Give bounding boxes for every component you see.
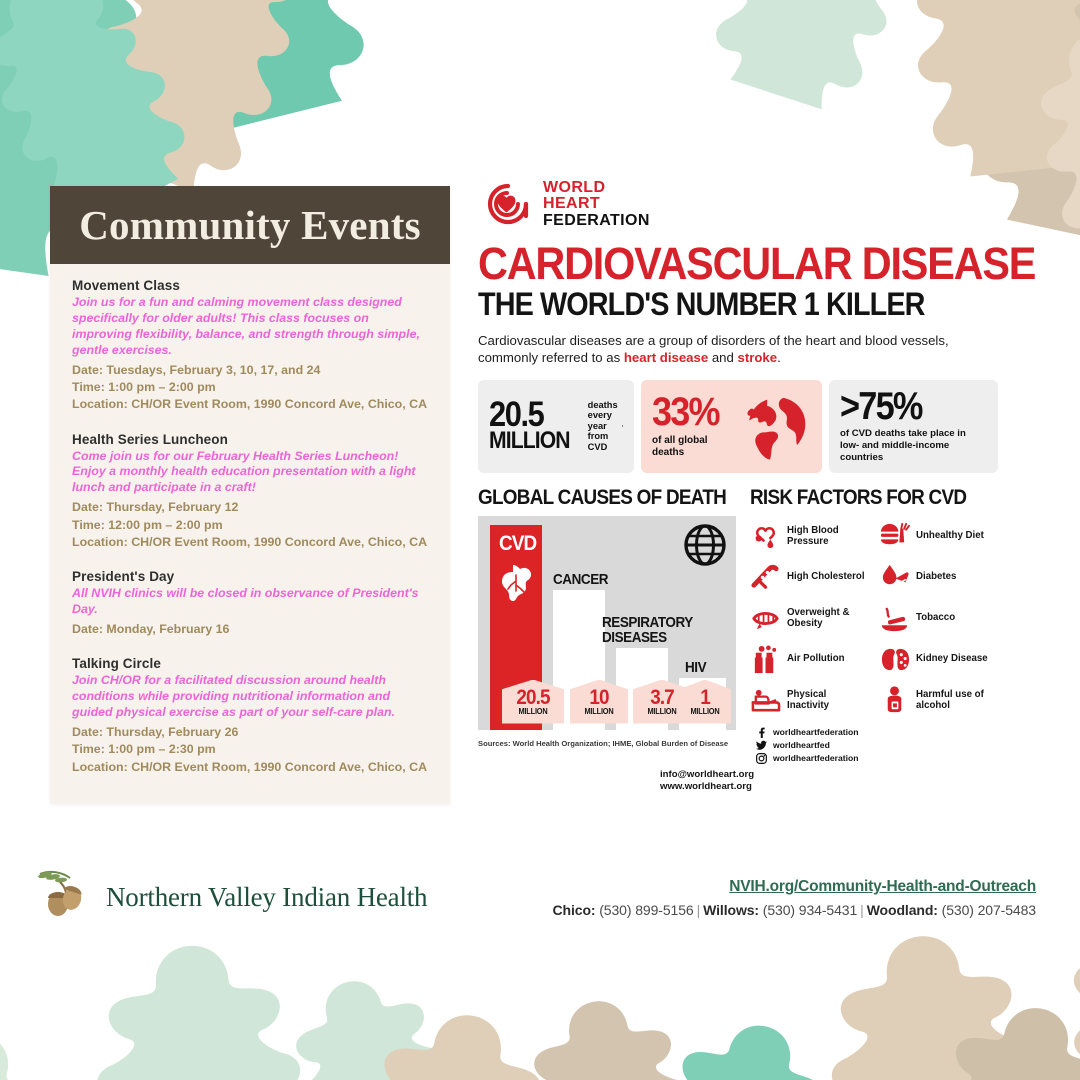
list-item: President's Day All NVIH clinics will be… bbox=[72, 569, 428, 638]
tape-measure-icon bbox=[750, 603, 781, 634]
page-footer: Northern Valley Indian Health NVIH.org/C… bbox=[0, 862, 1080, 950]
community-events-card: Community Events Movement Class Join us … bbox=[50, 186, 450, 804]
risk-label: Overweight & Obesity bbox=[787, 607, 869, 630]
logo-line-3: FEDERATION bbox=[543, 213, 650, 229]
infographic-lede: Cardiovascular diseases are a group of d… bbox=[478, 332, 990, 366]
chart-heading: GLOBAL CAUSES OF DEATH bbox=[478, 487, 710, 508]
list-item: Harmful use of alcohol bbox=[879, 680, 998, 721]
infographic-subtitle: THE WORLD'S NUMBER 1 KILLER bbox=[478, 288, 946, 320]
risk-label: Air Pollution bbox=[787, 653, 845, 664]
infographic-title: CARDIOVASCULAR DISEASE bbox=[478, 243, 956, 285]
contact-email[interactable]: info@worldheart.org bbox=[660, 769, 754, 782]
list-item: Unhealthy Diet bbox=[879, 516, 998, 557]
stat-card-income-countries: >75% of CVD deaths take place in low- an… bbox=[829, 380, 998, 473]
event-description: Come join us for our February Health Ser… bbox=[72, 449, 428, 497]
lede-heart-disease: heart disease bbox=[624, 350, 708, 365]
list-item: Air Pollution bbox=[750, 639, 869, 680]
key-statistics-row: 20.5 MILLION deaths every year from CVD … bbox=[478, 380, 998, 473]
event-location: Location: CH/OR Event Room, 1990 Concord… bbox=[72, 396, 428, 413]
contact-website[interactable]: www.worldheart.org bbox=[660, 781, 754, 794]
social-handle: worldheartfederation bbox=[773, 727, 858, 737]
risk-label: Physical Inactivity bbox=[787, 689, 869, 712]
skull-icon bbox=[622, 404, 623, 448]
list-item: High Cholesterol bbox=[750, 557, 869, 598]
bar-label-hiv: HIV bbox=[685, 660, 706, 675]
logo-line-2: HEART bbox=[543, 196, 650, 212]
risk-label: Kidney Disease bbox=[916, 653, 988, 664]
risk-label: High Cholesterol bbox=[787, 571, 865, 582]
event-title: President's Day bbox=[72, 569, 428, 584]
event-time: Time: 1:00 pm – 2:30 pm bbox=[72, 741, 428, 758]
phone-city-woodland: Woodland: bbox=[867, 902, 938, 918]
burger-fries-icon bbox=[879, 521, 910, 552]
heart-bloodpressure-icon bbox=[750, 521, 781, 552]
world-heart-federation-logo: WORLD HEART FEDERATION bbox=[478, 180, 998, 229]
list-item: High Blood Pressure bbox=[750, 516, 869, 557]
chart-sources: Sources: World Health Organization; IHME… bbox=[478, 739, 736, 749]
value-unit: MILLION bbox=[573, 708, 625, 716]
couch-person-icon bbox=[750, 685, 781, 716]
phone-city-chico: Chico: bbox=[553, 902, 596, 918]
event-description: All NVIH clinics will be closed in obser… bbox=[72, 586, 428, 618]
list-item: Physical Inactivity bbox=[750, 680, 869, 721]
stat-card-deaths: 20.5 MILLION deaths every year from CVD bbox=[478, 380, 634, 473]
separator-2: | bbox=[857, 902, 867, 918]
contact-info: info@worldheart.org www.worldheart.org bbox=[478, 769, 998, 795]
event-location: Location: CH/OR Event Room, 1990 Concord… bbox=[72, 759, 428, 776]
footer-contact: NVIH.org/Community-Health-and-Outreach C… bbox=[553, 878, 1037, 918]
list-item: Talking Circle Join CH/OR for a facilita… bbox=[72, 656, 428, 776]
list-item: Movement Class Join us for a fun and cal… bbox=[72, 278, 428, 414]
event-description: Join CH/OR for a facilitated discussion … bbox=[72, 673, 428, 721]
event-date: Date: Thursday, February 12 bbox=[72, 499, 428, 516]
cvd-infographic: WORLD HEART FEDERATION CARDIOVASCULAR DI… bbox=[478, 180, 998, 794]
risk-label: Tobacco bbox=[916, 612, 955, 623]
risk-column-right: Unhealthy Diet Diabetes bbox=[879, 516, 998, 721]
event-title: Movement Class bbox=[72, 278, 428, 293]
org-name: Northern Valley Indian Health bbox=[106, 882, 427, 913]
social-handle: worldheartfederation bbox=[773, 753, 858, 763]
bar-label-cvd: CVD bbox=[499, 533, 536, 554]
event-date: Date: Tuesdays, February 3, 10, 17, and … bbox=[72, 362, 428, 379]
event-location: Location: CH/OR Event Room, 1990 Concord… bbox=[72, 534, 428, 551]
bar-label-cancer: CANCER bbox=[553, 572, 608, 587]
stat-unit: MILLION bbox=[489, 430, 570, 453]
phone-numbers: Chico: (530) 899-5156|Willows: (530) 934… bbox=[553, 902, 1037, 918]
stat-value: 33% bbox=[652, 394, 726, 430]
risk-heading: RISK FACTORS FOR CVD bbox=[750, 487, 973, 508]
stat-note: deaths every year from CVD bbox=[588, 400, 618, 453]
globe-icon bbox=[684, 524, 726, 566]
acorn-pine-icon bbox=[36, 868, 98, 926]
page-title: Community Events bbox=[79, 205, 420, 246]
list-item: Diabetes bbox=[879, 557, 998, 598]
social-facebook[interactable]: worldheartfederation bbox=[756, 727, 998, 738]
list-item: Overweight & Obesity bbox=[750, 598, 869, 639]
heart-anatomy-icon bbox=[497, 561, 537, 601]
phone-number-willows[interactable]: (530) 934-5431 bbox=[759, 902, 857, 918]
value-unit: MILLION bbox=[682, 708, 729, 716]
nvih-logo: Northern Valley Indian Health bbox=[36, 868, 427, 926]
global-causes-of-death-chart: GLOBAL CAUSES OF DEATH CVD bbox=[478, 487, 736, 764]
risk-column-left: High Blood Pressure High Cholesterol bbox=[750, 516, 869, 721]
bar-chart-plot: CVD CANCER RESPIRATORY DISEASES HI bbox=[478, 516, 736, 730]
events-card-header: Community Events bbox=[50, 186, 450, 264]
social-links: worldheartfederation worldheartfed bbox=[756, 727, 998, 764]
stat-value: 20.5 bbox=[489, 400, 570, 430]
event-time: Time: 1:00 pm – 2:00 pm bbox=[72, 379, 428, 396]
list-item: Tobacco bbox=[879, 598, 998, 639]
event-date: Date: Monday, February 16 bbox=[72, 621, 428, 638]
separator-1: | bbox=[694, 902, 704, 918]
blood-drop-icon bbox=[879, 562, 910, 593]
twitter-icon bbox=[756, 740, 767, 751]
social-instagram[interactable]: worldheartfederation bbox=[756, 753, 998, 764]
bar-label-respiratory: RESPIRATORY DISEASES bbox=[602, 615, 674, 646]
phone-number-chico[interactable]: (530) 899-5156 bbox=[595, 902, 693, 918]
artery-icon bbox=[750, 562, 781, 593]
event-title: Health Series Luncheon bbox=[72, 432, 428, 447]
stat-note: of all global deaths bbox=[652, 435, 734, 459]
lede-text-post: . bbox=[777, 350, 781, 365]
factory-icon bbox=[750, 644, 781, 675]
risk-label: Unhealthy Diet bbox=[916, 530, 984, 541]
cigarette-ashtray-icon bbox=[879, 603, 910, 634]
risk-label: Harmful use of alcohol bbox=[916, 689, 998, 712]
risk-factors-section: RISK FACTORS FOR CVD High Blood Pressure bbox=[750, 487, 998, 764]
event-title: Talking Circle bbox=[72, 656, 428, 671]
events-list: Movement Class Join us for a fun and cal… bbox=[50, 264, 450, 804]
person-drinking-icon bbox=[879, 685, 910, 716]
value-cvd: 20.5 bbox=[505, 689, 561, 707]
phone-city-willows: Willows: bbox=[703, 902, 759, 918]
social-handle: worldheartfed bbox=[773, 740, 830, 750]
event-date: Date: Thursday, February 26 bbox=[72, 724, 428, 741]
list-item: Health Series Luncheon Come join us for … bbox=[72, 432, 428, 552]
stat-value: >75% bbox=[840, 389, 922, 425]
phone-number-woodland[interactable]: (530) 207-5483 bbox=[938, 902, 1036, 918]
value-cancer: 10 bbox=[573, 689, 625, 707]
value-hiv: 1 bbox=[682, 689, 729, 707]
lede-stroke: stroke bbox=[738, 350, 778, 365]
stat-note: of CVD deaths take place in low- and mid… bbox=[840, 428, 987, 463]
logo-line-1: WORLD bbox=[543, 180, 650, 196]
value-unit: MILLION bbox=[505, 708, 561, 716]
lede-text-mid: and bbox=[708, 350, 737, 365]
instagram-icon bbox=[756, 753, 767, 764]
lower-sections: GLOBAL CAUSES OF DEATH CVD bbox=[478, 487, 998, 764]
heart-swirl-icon bbox=[478, 180, 534, 228]
list-item: Kidney Disease bbox=[879, 639, 998, 680]
risk-label: High Blood Pressure bbox=[787, 525, 869, 548]
kidney-icon bbox=[879, 644, 910, 675]
globe-red-icon bbox=[740, 389, 811, 463]
social-twitter[interactable]: worldheartfed bbox=[756, 740, 998, 751]
event-description: Join us for a fun and calming movement c… bbox=[72, 295, 428, 359]
facebook-icon bbox=[756, 727, 767, 738]
risk-label: Diabetes bbox=[916, 571, 956, 582]
stat-card-global-deaths: 33% of all global deaths bbox=[641, 380, 822, 473]
event-time: Time: 12:00 pm – 2:00 pm bbox=[72, 517, 428, 534]
nvih-url-link[interactable]: NVIH.org/Community-Health-and-Outreach bbox=[729, 878, 1036, 896]
